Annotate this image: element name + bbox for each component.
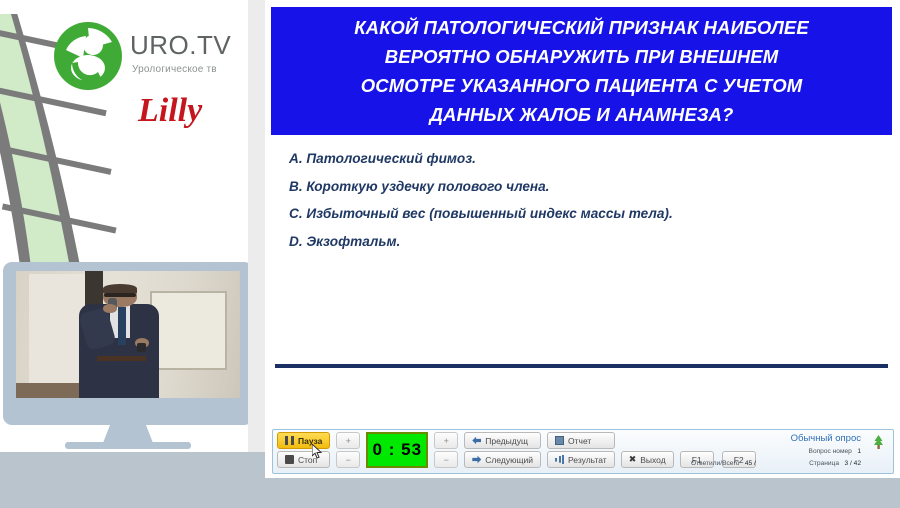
question-number-label: Вопрос номер bbox=[809, 448, 852, 455]
question-number-value: 1 bbox=[857, 448, 861, 455]
previous-label: Предыдущ bbox=[485, 436, 528, 446]
previous-button[interactable]: Предыдущ bbox=[464, 432, 541, 449]
answer-option-c[interactable]: C. Избыточный вес (повышенный индекс мас… bbox=[289, 200, 889, 228]
monitor-base bbox=[65, 442, 191, 449]
svg-text:Lilly: Lilly bbox=[137, 92, 203, 129]
countdown-timer: 0 : 53 bbox=[366, 432, 428, 468]
stop-icon bbox=[285, 455, 294, 464]
increase-time-button[interactable]: + bbox=[434, 432, 458, 449]
arrow-right-icon bbox=[472, 455, 481, 464]
video-monitor bbox=[3, 262, 248, 452]
stepper-right: + − bbox=[434, 432, 458, 468]
next-button[interactable]: Следующий bbox=[464, 451, 541, 468]
exit-label: Выход bbox=[640, 455, 665, 465]
lilly-sponsor-logo: Lilly bbox=[134, 88, 244, 132]
answer-option-a[interactable]: A. Патологический фимоз. bbox=[289, 145, 889, 173]
answered-value: 45 / bbox=[745, 460, 756, 467]
poll-mode-label: Обычный опрос bbox=[791, 433, 861, 444]
report-buttons: Отчет Результат bbox=[547, 432, 615, 468]
left-bottom-band bbox=[0, 452, 265, 478]
polling-control-bar: Пауза Стоп + − 0 : 53 + − Предыдущ bbox=[272, 429, 894, 474]
slide-area: КАКОЙ ПАТОЛОГИЧЕСКИЙ ПРИЗНАК НАИБОЛЕЕ ВЕ… bbox=[265, 0, 900, 478]
page-label: Страница bbox=[809, 460, 839, 467]
question-line: КАКОЙ ПАТОЛОГИЧЕСКИЙ ПРИЗНАК НАИБОЛЕЕ bbox=[354, 13, 809, 42]
report-label: Отчет bbox=[568, 436, 591, 446]
question-banner: КАКОЙ ПАТОЛОГИЧЕСКИЙ ПРИЗНАК НАИБОЛЕЕ ВЕ… bbox=[271, 7, 892, 135]
app-root: URO.TV Урологическое тв Lilly КАКОЙ П bbox=[0, 0, 900, 508]
mouse-cursor bbox=[312, 444, 323, 459]
monitor-neck bbox=[103, 425, 153, 443]
decrease-button[interactable]: − bbox=[336, 451, 360, 468]
video-screen[interactable] bbox=[16, 271, 240, 398]
answer-option-b[interactable]: B. Короткую уздечку полового члена. bbox=[289, 173, 889, 201]
stepper-left: + − bbox=[336, 432, 360, 468]
report-button[interactable]: Отчет bbox=[547, 432, 615, 449]
answered-status: Ответили/Всего 45 / bbox=[691, 460, 756, 467]
next-label: Следующий bbox=[485, 455, 533, 465]
result-label: Результат bbox=[568, 455, 607, 465]
channel-name: URO.TV bbox=[130, 30, 231, 61]
uro-aperture-logo bbox=[52, 20, 124, 92]
bar-chart-icon bbox=[555, 455, 564, 464]
answer-options: A. Патологический фимоз. B. Короткую узд… bbox=[289, 145, 889, 255]
brand-block: URO.TV Урологическое тв Lilly bbox=[52, 12, 248, 138]
increase-button[interactable]: + bbox=[336, 432, 360, 449]
branding-panel: URO.TV Урологическое тв Lilly bbox=[0, 0, 248, 478]
page-value: 3 / 42 bbox=[845, 460, 862, 467]
question-line: ДАННЫХ ЖАЛОБ И АНАМНЕЗА? bbox=[430, 100, 734, 129]
channel-subtitle: Урологическое тв bbox=[132, 64, 217, 75]
page-status: Страница 3 / 42 bbox=[809, 460, 861, 467]
green-tree-icon[interactable] bbox=[872, 434, 885, 450]
exit-button[interactable]: ✖ Выход bbox=[621, 451, 674, 468]
answer-option-d[interactable]: D. Экзофтальм. bbox=[289, 228, 889, 256]
arrow-left-icon bbox=[472, 436, 481, 445]
table-icon bbox=[555, 436, 564, 445]
close-icon: ✖ bbox=[629, 455, 637, 464]
answered-label: Ответили/Всего bbox=[691, 460, 739, 467]
pause-icon bbox=[285, 436, 294, 445]
result-button[interactable]: Результат bbox=[547, 451, 615, 468]
question-number-status: Вопрос номер 1 bbox=[809, 448, 861, 455]
decrease-time-button[interactable]: − bbox=[434, 451, 458, 468]
bottom-band bbox=[0, 478, 900, 508]
poll-status-panel: Обычный опрос Вопрос номер 1 Ответили/Вс… bbox=[673, 432, 887, 472]
exit-group: ✖ Выход bbox=[621, 432, 674, 468]
question-line: ОСМОТРЕ УКАЗАННОГО ПАЦИЕНТА С УЧЕТОМ bbox=[361, 71, 802, 100]
question-line: ВЕРОЯТНО ОБНАРУЖИТЬ ПРИ ВНЕШНЕМ bbox=[385, 42, 779, 71]
slide-divider bbox=[275, 364, 888, 368]
navigation-buttons: Предыдущ Следующий bbox=[464, 432, 541, 468]
